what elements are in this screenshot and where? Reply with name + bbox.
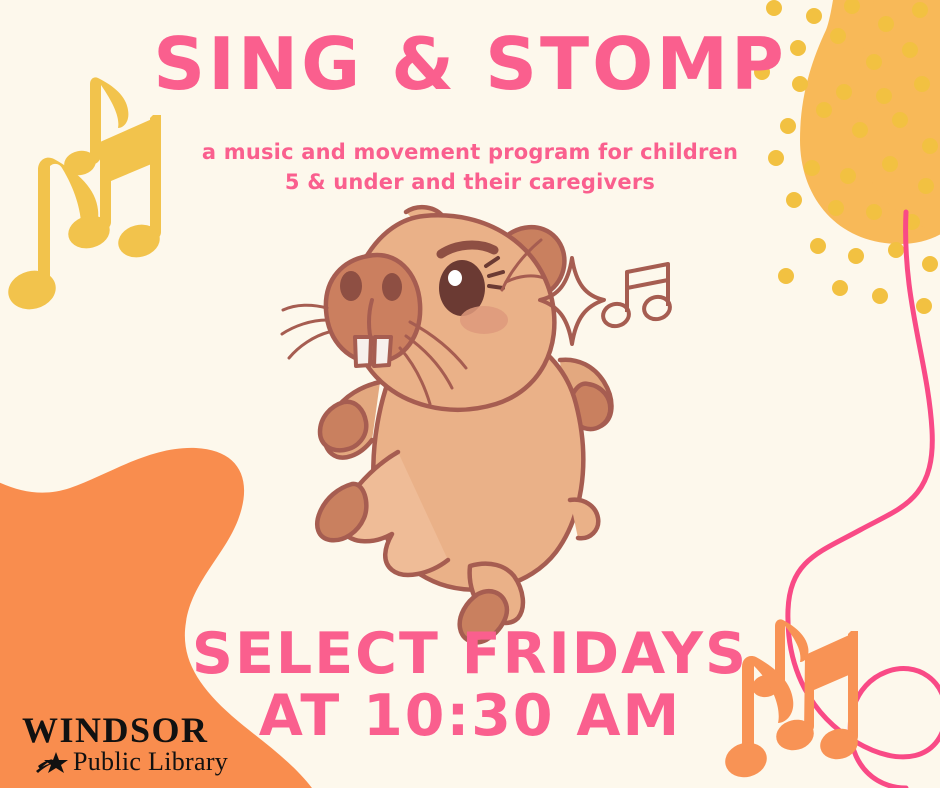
capybara-head bbox=[350, 215, 554, 409]
capybara-right-ear bbox=[496, 227, 565, 298]
logo-bottom-row: Public Library bbox=[36, 749, 252, 775]
capybara-left-arm bbox=[325, 382, 380, 458]
capybara-teeth bbox=[355, 337, 391, 366]
poster-title: SING & STOMP bbox=[0, 28, 940, 100]
capybara-whiskers bbox=[282, 305, 466, 404]
capybara-ear-details bbox=[502, 240, 544, 290]
capybara-body bbox=[373, 319, 583, 590]
logo-name-bottom: Public Library bbox=[73, 749, 228, 775]
capybara-blush bbox=[460, 306, 508, 334]
capybara-left-hand bbox=[320, 402, 366, 451]
capybara-snout bbox=[326, 255, 420, 362]
capybara-eyebrow bbox=[441, 245, 494, 254]
capybara-left-foot bbox=[317, 484, 366, 540]
subtitle-line-2: 5 & under and their caregivers bbox=[0, 168, 940, 198]
poster-subtitle: a music and movement program for childre… bbox=[0, 138, 940, 198]
capybara-right-hand bbox=[569, 384, 610, 429]
capybara-nostril-left bbox=[340, 271, 362, 301]
capybara-nostril-right bbox=[382, 273, 402, 301]
logo-name-top: WINDSOR bbox=[22, 712, 252, 748]
capybara-right-arm bbox=[560, 360, 612, 428]
music-note-outline-icon bbox=[601, 264, 673, 329]
windsor-public-library-logo: WINDSOR Public Library bbox=[22, 712, 252, 775]
capybara-right-leg bbox=[470, 564, 523, 623]
capybara-left-ear bbox=[406, 207, 447, 248]
capybara-snout-line bbox=[369, 300, 372, 344]
capybara-eye bbox=[439, 258, 503, 316]
subtitle-line-1: a music and movement program for childre… bbox=[0, 138, 940, 168]
star-flag-icon bbox=[36, 750, 70, 774]
sparkle-icon bbox=[540, 258, 604, 344]
schedule-line-1: SELECT FRIDAYS bbox=[0, 624, 940, 686]
capybara-belly bbox=[341, 452, 448, 575]
capybara-snout-details bbox=[340, 271, 402, 344]
capybara-tail bbox=[570, 500, 598, 539]
poster-canvas: SING & STOMP a music and movement progra… bbox=[0, 0, 940, 788]
